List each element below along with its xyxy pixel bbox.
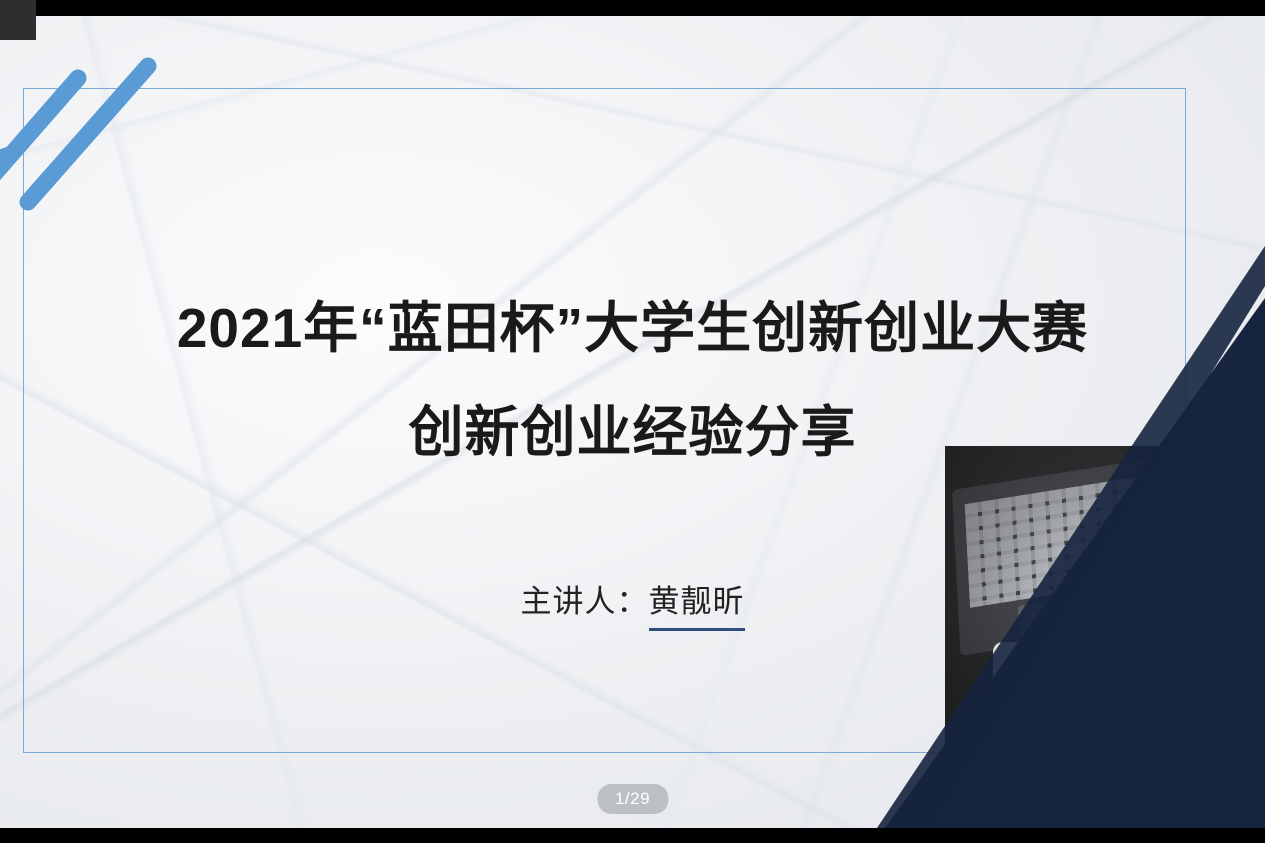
presenter-label: 主讲人： — [521, 584, 649, 619]
double-slash-icon — [0, 34, 200, 214]
top-left-tab — [0, 0, 36, 40]
presentation-viewer: 2021年“蓝田杯”大学生创新创业大赛 创新创业经验分享 主讲人：黄靓昕 1/2… — [0, 0, 1265, 843]
slide-canvas: 2021年“蓝田杯”大学生创新创业大赛 创新创业经验分享 主讲人：黄靓昕 1/2… — [0, 16, 1265, 828]
presenter-name: 黄靓昕 — [649, 576, 745, 631]
presenter-line: 主讲人：黄靓昕 — [521, 576, 745, 631]
page-indicator[interactable]: 1/29 — [597, 784, 668, 814]
slide-title: 2021年“蓝田杯”大学生创新创业大赛 创新创业经验分享 — [0, 276, 1265, 484]
title-line-1: 2021年“蓝田杯”大学生创新创业大赛 — [0, 276, 1265, 380]
title-line-2: 创新创业经验分享 — [0, 380, 1265, 484]
presenter-block: 主讲人：黄靓昕 — [0, 576, 1265, 631]
